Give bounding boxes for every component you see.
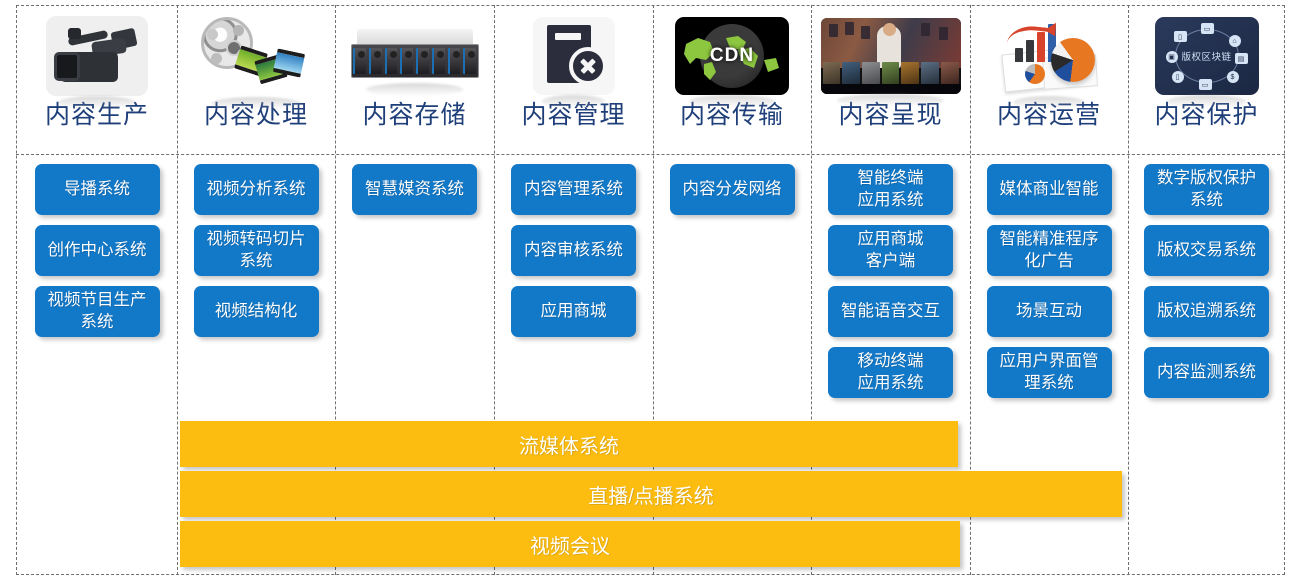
column-items: 智能终端 应用系统 应用商城 客户端 智能语音交互 移动终端 应用系统: [811, 164, 970, 398]
system-box[interactable]: 视频节目生产 系统: [35, 286, 160, 337]
column-header: 内容管理: [494, 5, 653, 154]
system-box[interactable]: 移动终端 应用系统: [828, 347, 953, 398]
column-header: 内容存储: [335, 5, 494, 154]
system-box[interactable]: 导播系统: [35, 164, 160, 215]
business-analytics-icon: [1001, 13, 1097, 99]
column-header: 内容呈现: [811, 5, 970, 154]
blockchain-label: 版权区块链: [1181, 49, 1231, 63]
smart-tv-screen-icon: [821, 13, 961, 99]
column-items: 数字版权保护 系统 版权交易系统 版权追溯系统 内容监测系统: [1128, 164, 1285, 398]
platform-bar-video-conference[interactable]: 视频会议: [180, 521, 960, 567]
system-box[interactable]: 智慧媒资系统: [352, 164, 477, 215]
header-divider-line: [16, 154, 1285, 155]
system-box[interactable]: 版权交易系统: [1144, 225, 1269, 276]
column-items: 视频分析系统 视频转码切片 系统 视频结构化: [177, 164, 335, 337]
document-reject-icon: [533, 13, 615, 99]
system-box[interactable]: 智能语音交互: [828, 286, 953, 337]
system-box[interactable]: 内容管理系统: [511, 164, 636, 215]
column-items: 导播系统 创作中心系统 视频节目生产 系统: [17, 164, 177, 337]
system-box[interactable]: 智能终端 应用系统: [828, 164, 953, 215]
video-camera-icon: [46, 13, 148, 99]
system-box[interactable]: 媒体商业智能: [987, 164, 1112, 215]
column-items: 媒体商业智能 智能精准程序 化广告 场景互动 应用户界面管 理系统: [970, 164, 1128, 398]
column-header: 内容处理: [177, 5, 335, 154]
system-box[interactable]: 内容审核系统: [511, 225, 636, 276]
system-box[interactable]: 内容分发网络: [670, 164, 795, 215]
cdn-label: CDN: [710, 45, 754, 67]
system-box[interactable]: 场景互动: [987, 286, 1112, 337]
system-box[interactable]: 视频转码切片 系统: [194, 225, 319, 276]
platform-bar-live-vod[interactable]: 直播/点播系统: [180, 471, 1122, 517]
system-box[interactable]: 创作中心系统: [35, 225, 160, 276]
system-box[interactable]: 应用商城: [511, 286, 636, 337]
column-items: 内容分发网络: [653, 164, 811, 215]
system-box[interactable]: 应用商城 客户端: [828, 225, 953, 276]
architecture-diagram: 内容生产 导播系统 创作中心系统 视频节目生产 系统: [0, 0, 1294, 581]
system-box[interactable]: 版权追溯系统: [1144, 286, 1269, 337]
system-box[interactable]: 应用户界面管 理系统: [987, 347, 1112, 398]
system-box[interactable]: 内容监测系统: [1144, 347, 1269, 398]
system-box[interactable]: 视频结构化: [194, 286, 319, 337]
column-header: 内容运营: [970, 5, 1128, 154]
column-header: CDN 内容传输: [653, 5, 811, 154]
column-header: ▭ ⌂ ▤ $ ▭ ▯ ▣ ▯ 版权区块链 内容保护: [1128, 5, 1285, 154]
column-header: 内容生产: [17, 5, 177, 154]
system-box[interactable]: 视频分析系统: [194, 164, 319, 215]
column-title: 内容存储: [362, 103, 466, 128]
film-reel-icon: [197, 13, 315, 99]
rack-server-icon: [351, 13, 479, 99]
column-items: 智慧媒资系统: [335, 164, 494, 215]
system-box[interactable]: 智能精准程序 化广告: [987, 225, 1112, 276]
column-items: 内容管理系统 内容审核系统 应用商城: [494, 164, 653, 337]
platform-bar-streaming[interactable]: 流媒体系统: [180, 421, 958, 467]
cdn-globe-icon: CDN: [675, 13, 789, 99]
system-box[interactable]: 数字版权保护 系统: [1144, 164, 1269, 215]
copyright-blockchain-icon: ▭ ⌂ ▤ $ ▭ ▯ ▣ ▯ 版权区块链: [1155, 13, 1259, 99]
